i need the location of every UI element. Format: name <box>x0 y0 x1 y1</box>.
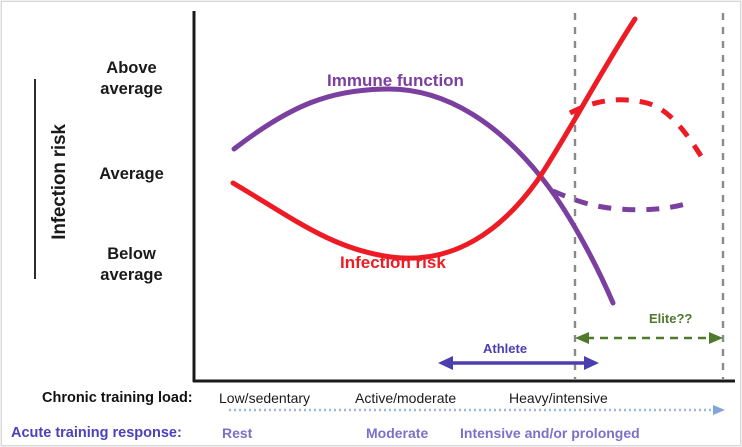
figure-root: Infection risk Above average Average Bel… <box>0 0 742 447</box>
athlete-annotation-label: Athlete <box>483 341 527 356</box>
chronic-cell-heavy-intensive: Heavy/intensive <box>509 390 608 406</box>
bottom-label-rows: Chronic training load: Low/sedentary Act… <box>1 387 742 445</box>
chronic-cell-low-sedentary: Low/sedentary <box>219 390 310 406</box>
plot-canvas <box>1 1 742 447</box>
chronic-cell-active-moderate: Active/moderate <box>355 390 456 406</box>
acute-cell-intensive-prolonged: Intensive and/or prolonged <box>460 425 640 441</box>
immune-function-dashed-branch <box>553 191 689 210</box>
infection-risk-label: Infection risk <box>340 253 446 273</box>
chronic-training-load-row: Chronic training load: Low/sedentary Act… <box>1 387 742 412</box>
acute-training-response-row: Acute training response: Rest Moderate I… <box>1 422 742 447</box>
elite-range-arrow <box>575 332 723 344</box>
elite-annotation-label: Elite?? <box>649 311 692 326</box>
acute-cell-rest: Rest <box>222 425 252 441</box>
acute-training-response-title: Acute training response: <box>11 425 182 441</box>
chronic-training-load-title: Chronic training load: <box>42 390 193 406</box>
immune-function-label: Immune function <box>327 71 464 91</box>
acute-cell-moderate: Moderate <box>366 425 428 441</box>
infection-risk-dashed-branch <box>570 100 701 156</box>
